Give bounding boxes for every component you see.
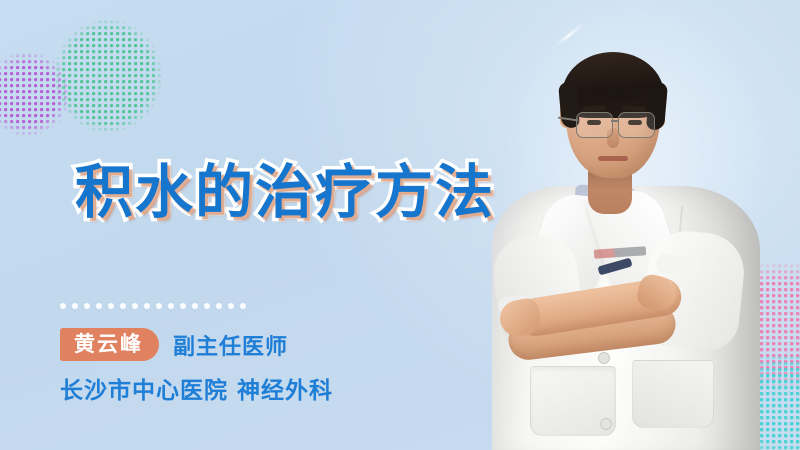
- divider-dot: [132, 303, 138, 309]
- divider-dot: [96, 303, 102, 309]
- doctor-portrait: [470, 0, 800, 450]
- divider-dot: [240, 303, 246, 309]
- dot-divider: [60, 303, 246, 309]
- divider-dot: [180, 303, 186, 309]
- divider-dot: [120, 303, 126, 309]
- coat-button-upper: [598, 352, 610, 364]
- coat-pocket-right: [632, 360, 714, 428]
- divider-dot: [156, 303, 162, 309]
- divider-dot: [60, 303, 66, 309]
- doctor-title: 副主任医师: [173, 329, 288, 361]
- video-cover-card: 积水的治疗方法 黄云峰 副主任医师 长沙市中心医院 神经外科: [0, 0, 800, 450]
- glasses-lens-right: [618, 112, 655, 138]
- green-halftone-blob: [32, 0, 184, 156]
- nose: [607, 128, 619, 148]
- divider-dot: [168, 303, 174, 309]
- coat-button-lower: [600, 418, 612, 430]
- doctor-info: 黄云峰 副主任医师 长沙市中心医院 神经外科: [60, 328, 333, 405]
- mouth: [598, 156, 628, 161]
- divider-dot: [216, 303, 222, 309]
- divider-dot: [84, 303, 90, 309]
- glasses-bridge: [611, 120, 619, 122]
- page-title: 积水的治疗方法: [75, 163, 495, 221]
- divider-dot: [192, 303, 198, 309]
- doctor-hospital-department: 长沙市中心医院 神经外科: [60, 371, 333, 405]
- divider-dot: [72, 303, 78, 309]
- divider-dot: [108, 303, 114, 309]
- doctor-info-line-1: 黄云峰 副主任医师: [60, 328, 333, 361]
- purple-halftone-blob: [0, 36, 92, 152]
- divider-dot: [144, 303, 150, 309]
- divider-dot: [228, 303, 234, 309]
- divider-dot: [204, 303, 210, 309]
- doctor-name-badge: 黄云峰: [60, 328, 159, 361]
